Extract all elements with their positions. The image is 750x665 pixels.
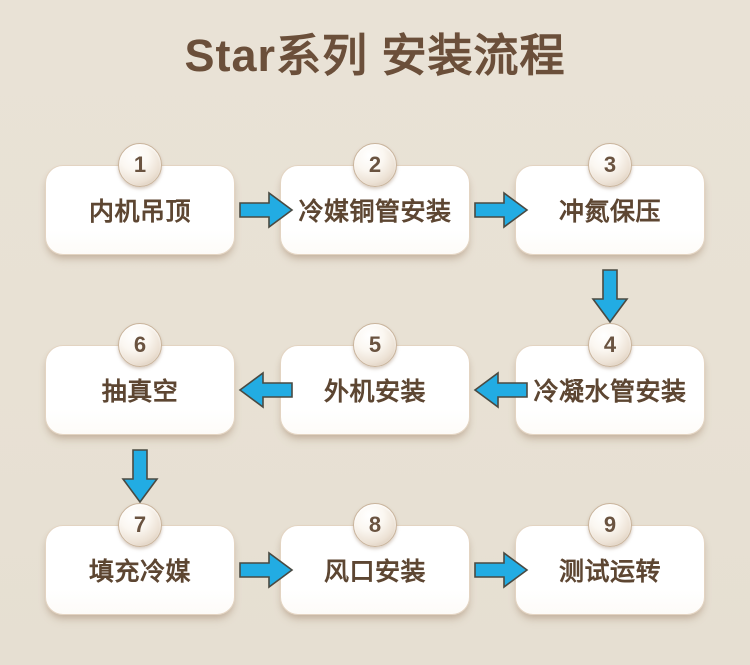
arrow-down-icon-3-to-4 — [590, 268, 630, 324]
flow-node-label-2: 冷媒铜管安装 — [292, 192, 457, 228]
page-title: Star系列 安装流程 — [0, 28, 750, 84]
flow-node-label-5: 外机安装 — [318, 372, 432, 408]
flow-node-8[interactable]: 8 风口安装 — [280, 525, 470, 615]
flow-node-3[interactable]: 3 冲氮保压 — [515, 165, 705, 255]
flow-node-label-7: 填充冷媒 — [83, 552, 197, 588]
step-number-2: 2 — [369, 154, 381, 176]
step-number-9: 9 — [604, 514, 616, 536]
step-badge-1: 1 — [118, 143, 162, 187]
step-badge-2: 2 — [353, 143, 397, 187]
flow-node-9[interactable]: 9 测试运转 — [515, 525, 705, 615]
step-badge-4: 4 — [588, 323, 632, 367]
step-badge-9: 9 — [588, 503, 632, 547]
step-number-7: 7 — [134, 514, 146, 536]
flow-node-label-6: 抽真空 — [96, 372, 185, 408]
step-badge-3: 3 — [588, 143, 632, 187]
step-badge-7: 7 — [118, 503, 162, 547]
step-badge-6: 6 — [118, 323, 162, 367]
flow-node-label-3: 冲氮保压 — [553, 192, 667, 228]
flow-node-6[interactable]: 6 抽真空 — [45, 345, 235, 435]
step-number-4: 4 — [604, 334, 616, 356]
step-number-5: 5 — [369, 334, 381, 356]
flow-node-5[interactable]: 5 外机安装 — [280, 345, 470, 435]
arrow-right-icon-7-to-8 — [238, 550, 294, 590]
flow-node-label-4: 冷凝水管安装 — [527, 372, 692, 408]
flow-node-4[interactable]: 4 冷凝水管安装 — [515, 345, 705, 435]
step-number-6: 6 — [134, 334, 146, 356]
flow-node-label-9: 测试运转 — [553, 552, 667, 588]
arrow-left-icon-5-to-6 — [238, 370, 294, 410]
arrow-down-icon-6-to-7 — [120, 448, 160, 504]
flow-node-1[interactable]: 1 内机吊顶 — [45, 165, 235, 255]
flow-node-7[interactable]: 7 填充冷媒 — [45, 525, 235, 615]
flow-node-2[interactable]: 2 冷媒铜管安装 — [280, 165, 470, 255]
flowchart-canvas: Star系列 安装流程 1 内机吊顶 2 冷媒铜管安装 3 冲氮保压 4 冷凝水… — [0, 0, 750, 665]
arrow-right-icon-1-to-2 — [238, 190, 294, 230]
arrow-right-icon-2-to-3 — [473, 190, 529, 230]
step-badge-5: 5 — [353, 323, 397, 367]
step-badge-8: 8 — [353, 503, 397, 547]
flow-node-label-1: 内机吊顶 — [83, 192, 197, 228]
arrow-right-icon-8-to-9 — [473, 550, 529, 590]
step-number-3: 3 — [604, 154, 616, 176]
flow-node-label-8: 风口安装 — [318, 552, 432, 588]
arrow-left-icon-4-to-5 — [473, 370, 529, 410]
step-number-8: 8 — [369, 514, 381, 536]
step-number-1: 1 — [134, 154, 146, 176]
